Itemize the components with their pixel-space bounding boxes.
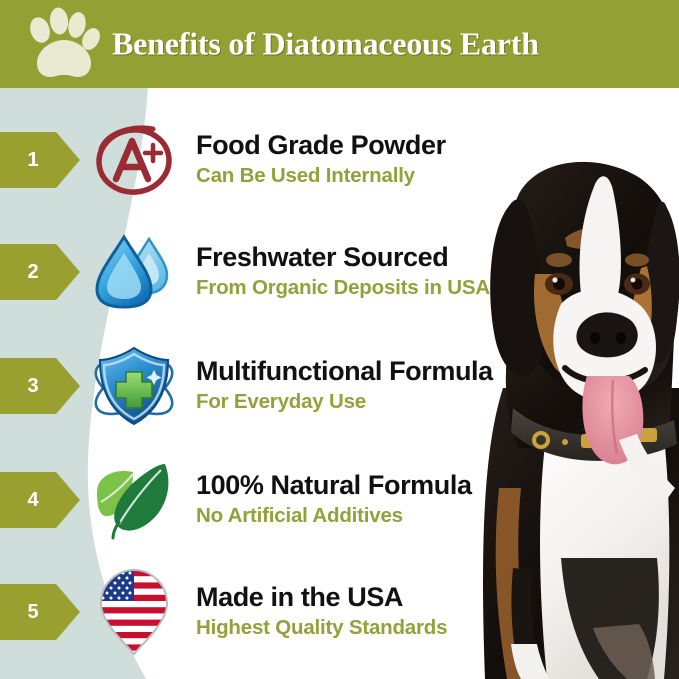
page-title: Benefits of Diatomaceous Earth xyxy=(112,26,539,63)
benefit-row-3: 3 xyxy=(0,330,560,442)
badge-2: 2 xyxy=(0,244,82,300)
benefit-subtitle-3: For Everyday Use xyxy=(196,389,493,415)
badge-1: 1 xyxy=(0,132,82,188)
usa-flag-pin-icon xyxy=(86,568,182,656)
shield-atom-cross-icon xyxy=(86,342,182,430)
benefit-row-2: 2 xyxy=(0,216,560,328)
badge-number-1: 1 xyxy=(0,132,66,188)
benefit-title-2: Freshwater Sourced xyxy=(196,243,490,272)
benefit-row-1: 1 Food Grade Powder Can Be Used Internal… xyxy=(0,104,560,216)
header-bar: Benefits of Diatomaceous Earth xyxy=(0,0,679,88)
benefit-subtitle-1: Can Be Used Internally xyxy=(196,163,446,189)
benefit-title-5: Made in the USA xyxy=(196,583,447,612)
benefit-text-3: Multifunctional Formula For Everyday Use xyxy=(196,357,493,415)
benefit-title-4: 100% Natural Formula xyxy=(196,471,472,500)
leaves-icon xyxy=(86,456,182,544)
benefit-subtitle-5: Highest Quality Standards xyxy=(196,615,447,641)
badge-4: 4 xyxy=(0,472,82,528)
benefit-text-2: Freshwater Sourced From Organic Deposits… xyxy=(196,243,490,301)
badge-number-3: 3 xyxy=(0,358,66,414)
badge-3: 3 xyxy=(0,358,82,414)
a-plus-grade-icon xyxy=(86,116,182,204)
badge-5: 5 xyxy=(0,584,82,640)
benefit-title-1: Food Grade Powder xyxy=(196,131,446,160)
benefit-title-3: Multifunctional Formula xyxy=(196,357,493,386)
benefit-row-4: 4 100% Natural Formula No Artificial Add… xyxy=(0,444,560,556)
badge-number-2: 2 xyxy=(0,244,66,300)
badge-number-5: 5 xyxy=(0,584,66,640)
paw-print-icon xyxy=(18,6,110,84)
benefit-text-1: Food Grade Powder Can Be Used Internally xyxy=(196,131,446,189)
benefit-row-5: 5 xyxy=(0,556,560,668)
benefit-text-4: 100% Natural Formula No Artificial Addit… xyxy=(196,471,472,529)
benefit-subtitle-4: No Artificial Additives xyxy=(196,503,472,529)
water-droplets-icon xyxy=(86,228,182,316)
benefit-subtitle-2: From Organic Deposits in USA xyxy=(196,275,490,301)
badge-number-4: 4 xyxy=(0,472,66,528)
benefit-text-5: Made in the USA Highest Quality Standard… xyxy=(196,583,447,641)
infographic-root: Benefits of Diatomaceous Earth xyxy=(0,0,679,679)
